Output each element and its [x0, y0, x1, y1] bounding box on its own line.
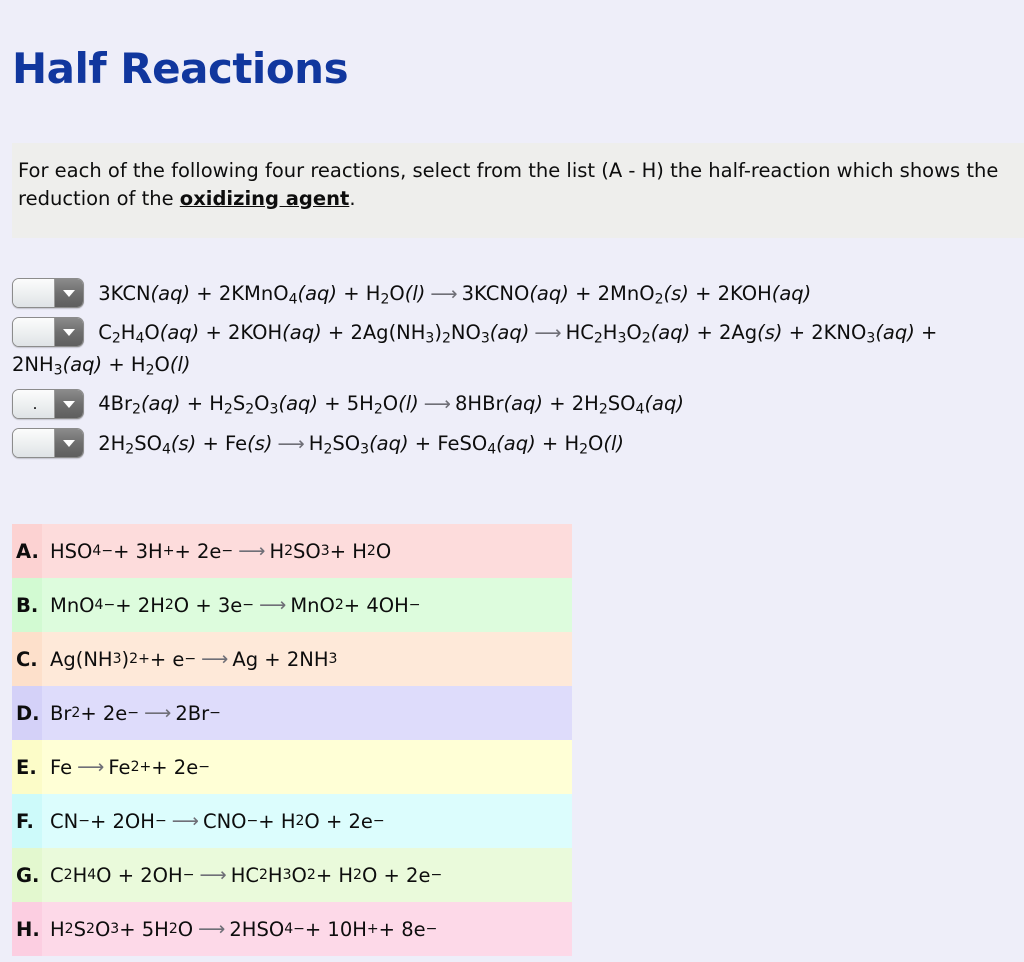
chevron-down-icon[interactable] — [54, 279, 83, 307]
option-equation-a: HSO4− + 3H+ + 2e−⟶H2SO3 + H2O — [42, 524, 572, 578]
instructions-emphasis: oxidizing agent — [180, 187, 350, 210]
option-row-f: F. CN− + 2OH−⟶CNO− + H2O + 2e− — [12, 794, 572, 848]
reaction-arrow-icon: ⟶ — [72, 756, 108, 778]
option-equation-c: Ag(NH3)2+ + e−⟶Ag + 2NH3 — [42, 632, 572, 686]
page-root: Half Reactions For each of the following… — [0, 0, 1024, 962]
instructions-text-before: For each of the following four reactions… — [18, 159, 998, 210]
reaction-arrow-icon: ⟶ — [529, 319, 565, 348]
option-letter-h: H. — [12, 902, 42, 956]
option-row-c: C. Ag(NH3)2+ + e−⟶Ag + 2NH3 — [12, 632, 572, 686]
reaction-row-1: 3KCN(aq) + 2KMnO4(aq) + H2O(l)⟶3KCNO(aq)… — [12, 278, 1018, 310]
reaction-1-select[interactable] — [12, 278, 84, 308]
option-letter-c: C. — [12, 632, 42, 686]
option-row-e: E. Fe⟶Fe2+ + 2e− — [12, 740, 572, 794]
reaction-2-equation: C2H4O(aq) + 2KOH(aq) + 2Ag(NH3)2NO3(aq)⟶… — [12, 321, 937, 376]
option-letter-b: B. — [12, 578, 42, 632]
option-letter-d: D. — [12, 686, 42, 740]
reaction-arrow-icon: ⟶ — [193, 918, 229, 940]
chevron-down-icon[interactable] — [54, 318, 83, 346]
reaction-4-select[interactable] — [12, 428, 84, 458]
option-equation-e: Fe⟶Fe2+ + 2e− — [42, 740, 572, 794]
reaction-row-4: 2H2SO4(s) + Fe(s)⟶H2SO3(aq) + FeSO4(aq) … — [12, 428, 1018, 460]
reaction-1-equation: 3KCN(aq) + 2KMnO4(aq) + H2O(l)⟶3KCNO(aq)… — [98, 282, 811, 305]
instructions-panel: For each of the following four reactions… — [12, 143, 1024, 238]
reaction-row-3: . 4Br2(aq) + H2S2O3(aq) + 5H2O(l)⟶8HBr(a… — [12, 389, 1018, 421]
reaction-arrow-icon: ⟶ — [196, 648, 232, 670]
reaction-3-select[interactable]: . — [12, 389, 84, 419]
chevron-down-icon[interactable] — [54, 429, 83, 457]
option-letter-g: G. — [12, 848, 42, 902]
option-equation-g: C2H4O + 2OH−⟶HC2H3O2 + H2O + 2e− — [42, 848, 572, 902]
reaction-4-equation: 2H2SO4(s) + Fe(s)⟶H2SO3(aq) + FeSO4(aq) … — [98, 432, 624, 455]
option-row-b: B. MnO4− + 2H2O + 3e−⟶MnO2 + 4OH− — [12, 578, 572, 632]
option-letter-e: E. — [12, 740, 42, 794]
reaction-arrow-icon: ⟶ — [425, 280, 461, 309]
reaction-arrow-icon: ⟶ — [233, 540, 269, 562]
reaction-arrow-icon: ⟶ — [167, 810, 203, 832]
option-row-g: G. C2H4O + 2OH−⟶HC2H3O2 + H2O + 2e− — [12, 848, 572, 902]
option-equation-h: H2S2O3 + 5H2O⟶2HSO4− + 10H+ + 8e− — [42, 902, 572, 956]
option-row-h: H. H2S2O3 + 5H2O⟶2HSO4− + 10H+ + 8e− — [12, 902, 572, 956]
instructions-text: For each of the following four reactions… — [18, 157, 1003, 212]
chevron-down-icon[interactable] — [54, 390, 83, 418]
reaction-3-equation: 4Br2(aq) + H2S2O3(aq) + 5H2O(l)⟶8HBr(aq)… — [98, 392, 684, 415]
reaction-2-select[interactable] — [12, 317, 84, 347]
reaction-arrow-icon: ⟶ — [419, 390, 455, 419]
option-letter-a: A. — [12, 524, 42, 578]
option-row-a: A. HSO4− + 3H+ + 2e−⟶H2SO3 + H2O — [12, 524, 572, 578]
reaction-2-select-value — [13, 318, 57, 346]
reaction-list: 3KCN(aq) + 2KMnO4(aq) + H2O(l)⟶3KCNO(aq)… — [12, 278, 1018, 468]
reaction-arrow-icon: ⟶ — [273, 430, 309, 459]
page-title: Half Reactions — [12, 47, 348, 91]
reaction-4-select-value — [13, 429, 57, 457]
option-equation-b: MnO4− + 2H2O + 3e−⟶MnO2 + 4OH− — [42, 578, 572, 632]
reaction-arrow-icon: ⟶ — [139, 702, 175, 724]
option-row-d: D. Br2 + 2e−⟶2Br− — [12, 686, 572, 740]
option-equation-f: CN− + 2OH−⟶CNO− + H2O + 2e− — [42, 794, 572, 848]
reaction-arrow-icon: ⟶ — [254, 594, 290, 616]
option-equation-d: Br2 + 2e−⟶2Br− — [42, 686, 572, 740]
reaction-3-select-value: . — [13, 390, 57, 418]
option-list: A. HSO4− + 3H+ + 2e−⟶H2SO3 + H2O B. MnO4… — [12, 524, 572, 956]
reaction-row-2: C2H4O(aq) + 2KOH(aq) + 2Ag(NH3)2NO3(aq)⟶… — [12, 317, 1018, 381]
option-letter-f: F. — [12, 794, 42, 848]
reaction-arrow-icon: ⟶ — [194, 864, 230, 886]
reaction-1-select-value — [13, 279, 57, 307]
instructions-text-after: . — [349, 187, 355, 210]
